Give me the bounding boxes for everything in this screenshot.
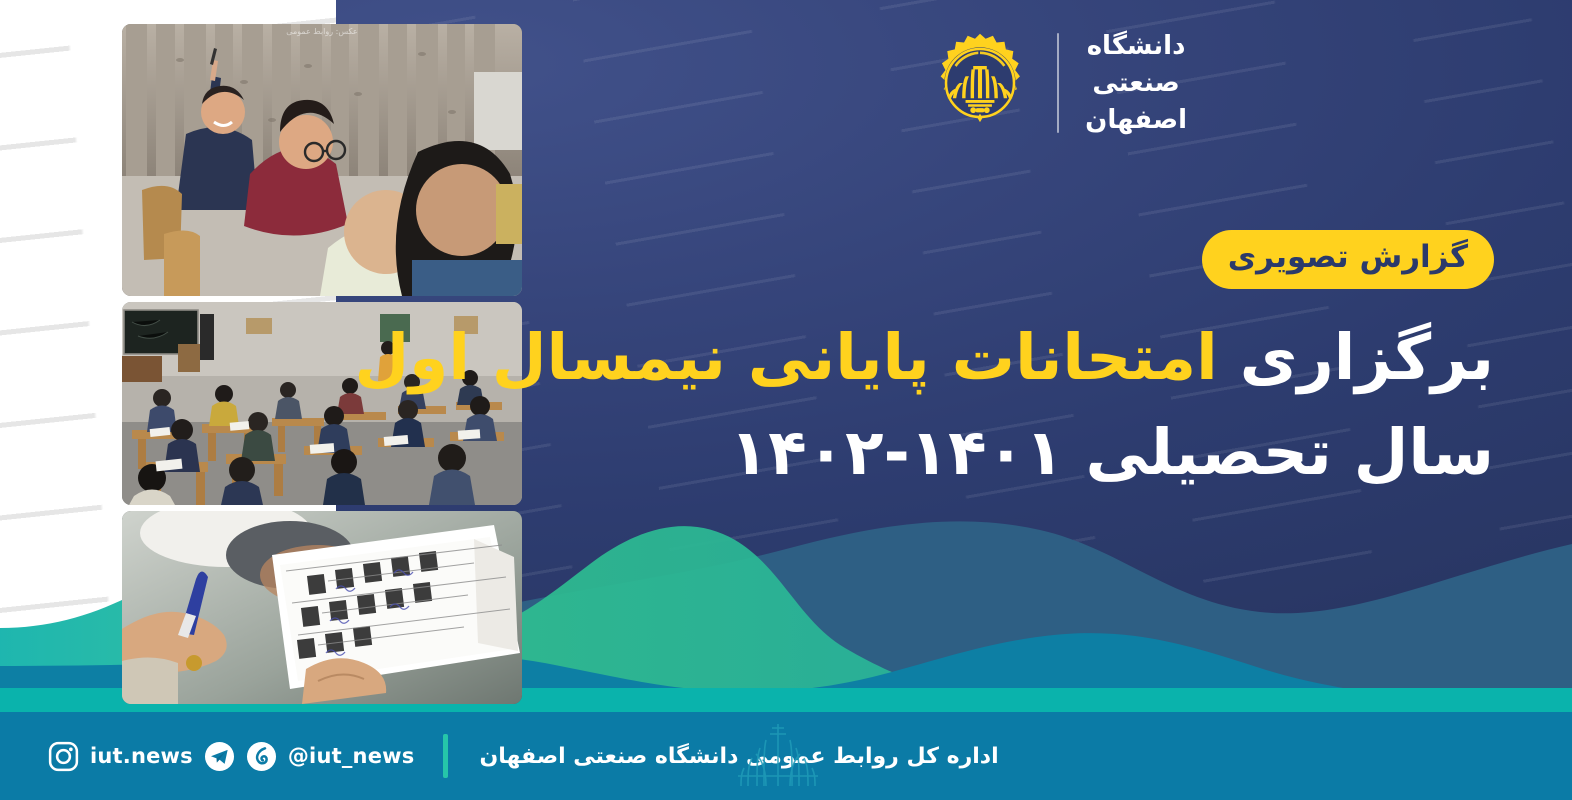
headline: برگزاری امتحانات پایانی نیمسال اول سال ت… <box>564 318 1494 493</box>
iut-emblem-watermark-icon <box>730 718 826 792</box>
headline-line-1: برگزاری امتحانات پایانی نیمسال اول <box>564 318 1494 399</box>
bale-icon[interactable] <box>246 741 277 772</box>
headline-phrase-yellow: امتحانات پایانی نیمسال اول <box>355 321 1218 394</box>
brand-name-line2: صنعتی <box>1085 65 1187 102</box>
footer-social-group: iut.news @iut_news اداره کل روابط عمومی … <box>48 734 999 778</box>
headline-word-white: برگزاری <box>1240 321 1494 394</box>
footer-bar: iut.news @iut_news اداره کل روابط عمومی … <box>0 712 1572 800</box>
instagram-handle[interactable]: iut.news <box>90 744 193 768</box>
brand-lockup: دانشگاه صنعتی اصفهان <box>929 28 1187 139</box>
brand-divider <box>1057 33 1059 133</box>
photo-report-badge: گزارش تصویری <box>1202 230 1494 289</box>
iut-gear-logo-icon <box>929 32 1031 134</box>
telegram-icon[interactable] <box>204 741 235 772</box>
brand-name-line3: اصفهان <box>1085 102 1187 139</box>
footer-divider <box>443 734 448 778</box>
brand-name-line1: دانشگاه <box>1085 28 1187 65</box>
headline-line-2: سال تحصیلی ۱۴۰۱-۱۴۰۲ <box>564 413 1494 494</box>
photo-attendance-sheet[interactable] <box>122 511 522 704</box>
instagram-icon[interactable] <box>48 741 79 772</box>
photo-student-raising-pen[interactable]: عکس: روابط عمومی <box>122 24 522 296</box>
photo-report-banner: iut.news @iut_news اداره کل روابط عمومی … <box>0 0 1572 800</box>
photo-credit: عکس: روابط عمومی <box>286 27 357 36</box>
messenger-handle[interactable]: @iut_news <box>288 744 415 768</box>
brand-name: دانشگاه صنعتی اصفهان <box>1085 28 1187 139</box>
